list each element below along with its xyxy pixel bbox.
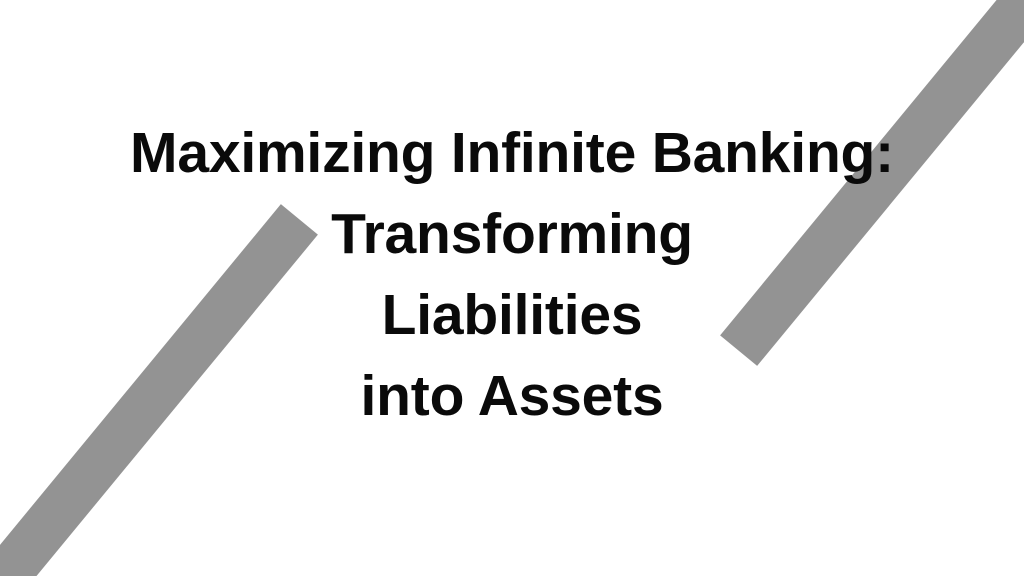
title-line-2: Transforming <box>331 194 693 275</box>
title-line-4: into Assets <box>361 356 664 437</box>
page-title: Maximizing Infinite Banking: Transformin… <box>0 0 1024 576</box>
title-line-3: Liabilities <box>382 275 643 356</box>
title-line-1: Maximizing Infinite Banking: <box>130 113 894 194</box>
slide-canvas: Maximizing Infinite Banking: Transformin… <box>0 0 1024 576</box>
